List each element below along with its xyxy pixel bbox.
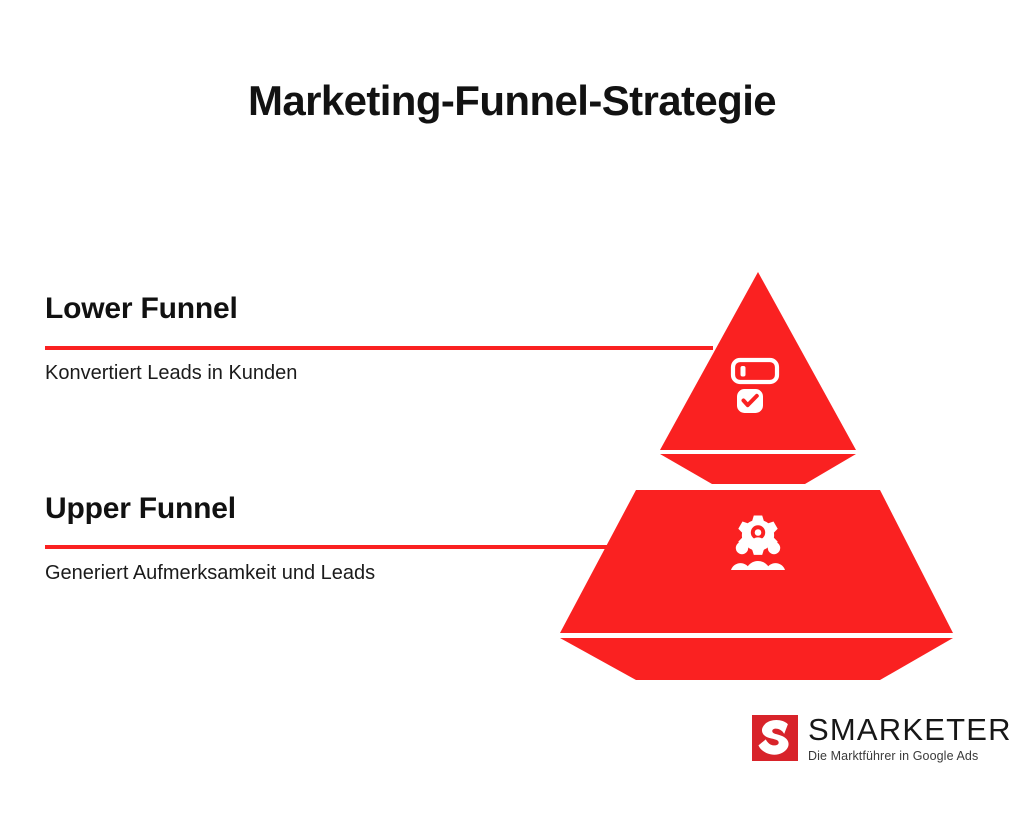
stage-description-lower-funnel: Konvertiert Leads in Kunden (45, 360, 400, 386)
smarketer-logo: SMARKETER Die Marktführer in Google Ads (752, 714, 1012, 763)
stage-block-upper-funnel: Upper Funnel Generiert Aufmerksamkeit un… (45, 492, 465, 586)
logo-wordmark: SMARKETER (808, 714, 1012, 745)
stage-heading-upper-funnel: Upper Funnel (45, 492, 465, 527)
logo-text: SMARKETER Die Marktführer in Google Ads (808, 714, 1012, 763)
funnel-tier-triangle-shadow (660, 454, 856, 484)
funnel-tier-trapezoid-shadow (560, 638, 953, 680)
smarketer-s-icon (752, 715, 798, 761)
page-title: Marketing-Funnel-Strategie (0, 78, 1024, 124)
funnel-infographic: Marketing-Funnel-Strategie Lower Funnel … (0, 0, 1024, 839)
stage-block-lower-funnel: Lower Funnel Konvertiert Leads in Kunden (45, 292, 465, 386)
stage-heading-lower-funnel: Lower Funnel (45, 292, 465, 327)
stage-description-upper-funnel: Generiert Aufmerksamkeit und Leads (45, 560, 400, 586)
logo-tagline: Die Marktführer in Google Ads (808, 750, 1012, 763)
funnel-diagram (520, 255, 1000, 695)
